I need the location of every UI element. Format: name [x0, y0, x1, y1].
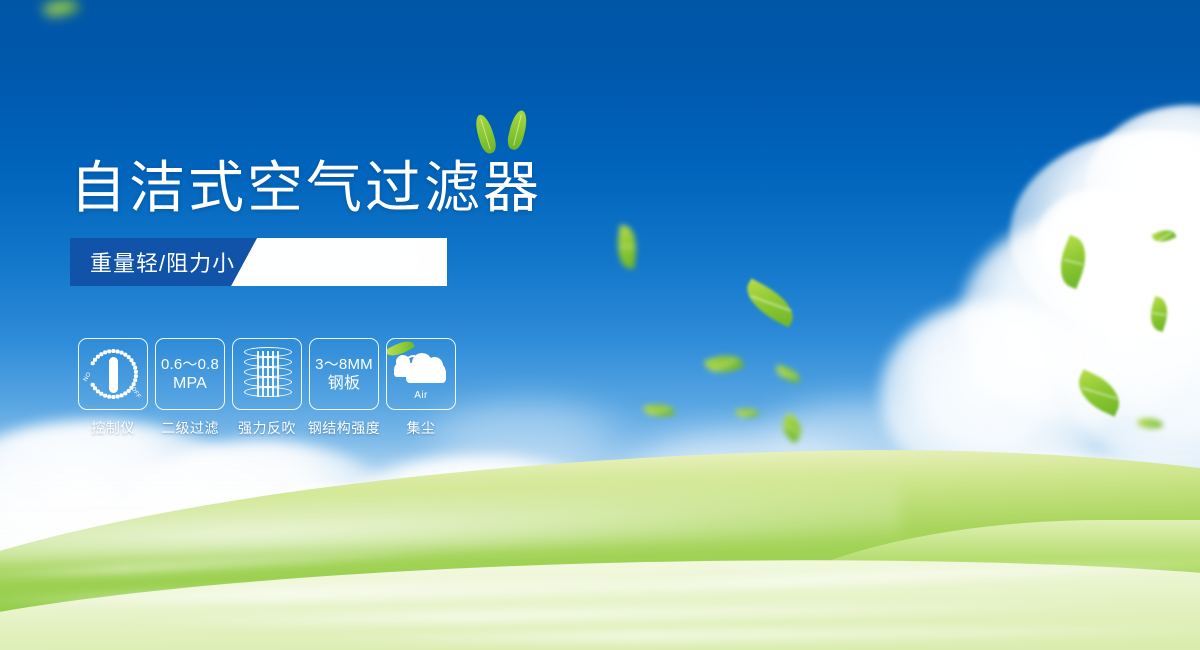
gauge-tick: [104, 394, 107, 397]
subtitle-bar: 重量轻/阻力小 精度高/使用方便: [70, 238, 447, 286]
feature-icon-box: Air: [386, 338, 456, 410]
subtitle-right-segment: 精度高/使用方便: [231, 238, 447, 286]
feature-icon-box: NO OFF: [78, 338, 148, 410]
gauge-tick: [127, 389, 130, 392]
gauge-tick: [132, 383, 135, 386]
product-banner: 自洁式空气过滤器 重量轻/阻力小 精度高/使用方便 NO OFF 控制仪 0.6…: [0, 0, 1200, 650]
gauge-tick: [124, 392, 127, 395]
gauge-tick: [112, 349, 115, 352]
feature-icon-box: 0.6～0.8 MPA: [155, 338, 225, 410]
gauge-tick: [108, 350, 111, 353]
filter-bar: [277, 351, 279, 397]
gauge-tick: [100, 392, 103, 395]
gauge-tick: [104, 351, 107, 354]
gauge-tick: [134, 370, 137, 373]
gauge-tick: [116, 395, 119, 398]
gauge-tick: [120, 351, 123, 354]
feature-label: 二级过滤: [155, 418, 225, 438]
gauge-icon: NO OFF: [84, 345, 142, 403]
gauge-tick: [108, 395, 111, 398]
feature-icon-box: 3～8MM 钢板: [309, 338, 379, 410]
cloud-large-puff: [426, 357, 443, 374]
feature-item-controller[interactable]: NO OFF 控制仪: [78, 338, 148, 438]
feature-icon-box: [232, 338, 302, 410]
filter-bar: [267, 351, 269, 397]
gauge-tick: [120, 394, 123, 397]
filter-cartridge-icon: [244, 347, 290, 401]
gauge-tick: [100, 353, 103, 356]
gauge-needle: [109, 357, 118, 393]
filter-bar: [257, 351, 259, 397]
feature-item-pressure[interactable]: 0.6～0.8 MPA 二级过滤: [155, 338, 225, 438]
gauge-tick: [134, 375, 137, 378]
feature-item-dust[interactable]: Air 集尘: [386, 338, 456, 438]
filter-bar: [272, 351, 274, 397]
feature-item-backwash[interactable]: 强力反吹: [232, 338, 302, 438]
grass-field: [0, 0, 1200, 650]
gauge-tick: [134, 379, 137, 382]
air-label: Air: [392, 390, 450, 401]
gauge-tick: [91, 362, 94, 365]
gauge-tick: [116, 350, 119, 353]
pressure-text-icon: 0.6～0.8 MPA: [161, 355, 219, 393]
feature-item-steel[interactable]: 3～8MM 钢板 钢结构强度: [309, 338, 379, 438]
steel-thickness: 3～8MM: [315, 356, 373, 373]
gauge-tick: [132, 362, 135, 365]
feature-label: 强力反吹: [232, 418, 302, 438]
gauge-tick: [96, 355, 99, 358]
steel-plate-text-icon: 3～8MM 钢板: [315, 355, 373, 393]
feature-label: 控制仪: [78, 418, 148, 438]
pressure-value: 0.6～0.8: [161, 356, 219, 373]
air-cloud-icon: Air: [392, 349, 450, 399]
subtitle-left-segment: 重量轻/阻力小: [70, 238, 257, 286]
pressure-unit: MPA: [161, 374, 219, 393]
steel-material: 钢板: [315, 374, 373, 393]
filter-bar: [262, 351, 264, 397]
feature-label: 钢结构强度: [297, 418, 391, 438]
page-title: 自洁式空气过滤器: [70, 143, 542, 224]
gauge-label-no: NO: [83, 371, 93, 382]
gauge-tick: [112, 395, 115, 398]
subtitle-right-label: 精度高/使用方便: [253, 246, 421, 278]
gauge-tick: [93, 358, 96, 361]
gauge-tick: [134, 366, 137, 369]
feature-label: 集尘: [386, 418, 456, 438]
feature-list: NO OFF 控制仪 0.6～0.8 MPA 二级过滤: [78, 338, 456, 438]
